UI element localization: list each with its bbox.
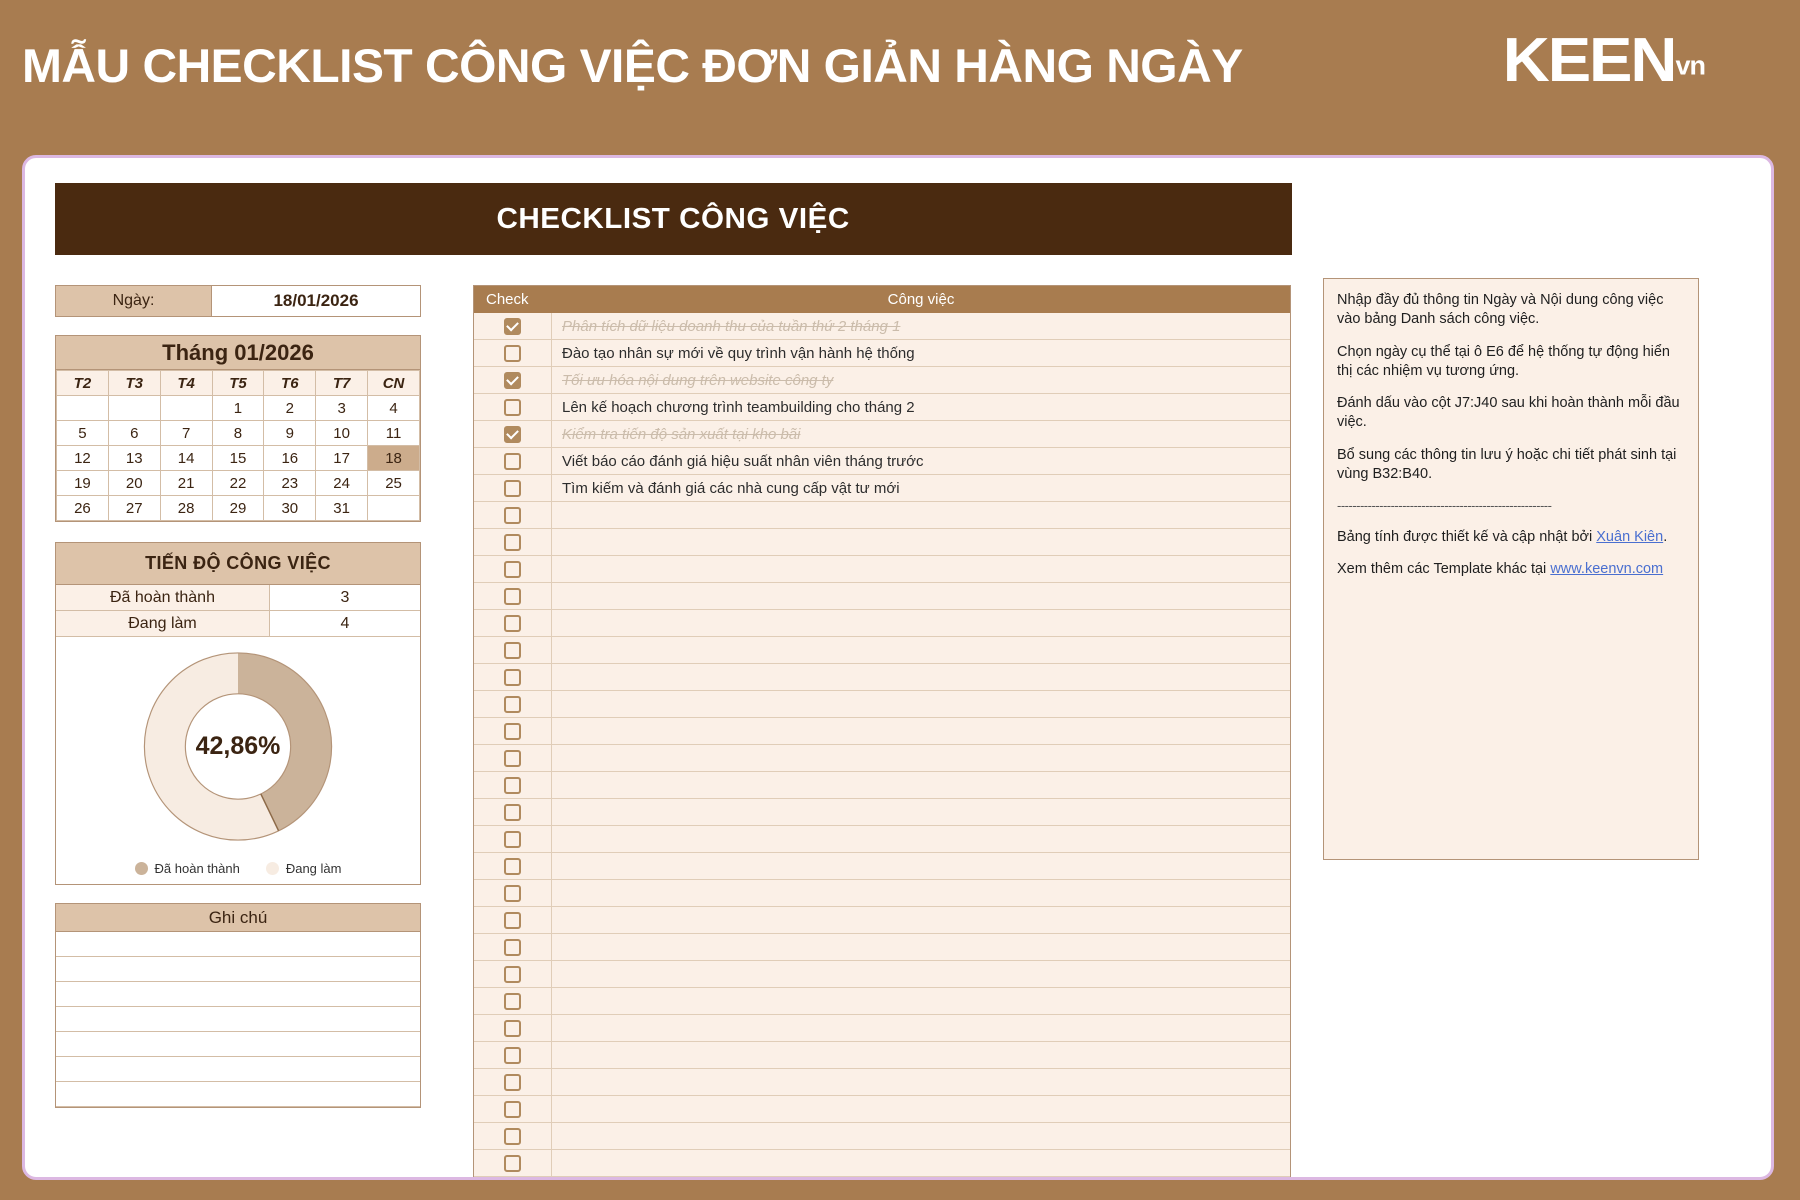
task-text-cell[interactable] [552,610,1290,636]
calendar-day-3[interactable]: 3 [316,396,368,421]
task-check-cell [474,1096,552,1122]
task-text-cell[interactable] [552,637,1290,663]
calendar-week-row: 19202122232425 [57,471,420,496]
task-text-cell[interactable] [552,907,1290,933]
calendar-day-9[interactable]: 9 [264,421,316,446]
notes-table: Ghi chú [55,903,421,1108]
credit-line: Bảng tính được thiết kế và cập nhật bởi … [1337,528,1686,547]
brand-suffix: vn [1675,51,1705,81]
table-row [474,718,1290,745]
task-check-cell [474,556,552,582]
calendar-week-row: 262728293031 [57,496,420,521]
task-check-cell [474,799,552,825]
checkbox-unchecked-icon[interactable] [504,453,521,470]
table-row: Kiểm tra tiến độ sản xuất tại kho bãi [474,421,1290,448]
task-text-cell[interactable] [552,691,1290,717]
task-text-cell[interactable] [552,1069,1290,1095]
progress-stat-row: Đang làm4 [56,611,420,637]
table-row: Tìm kiếm và đánh giá các nhà cung cấp vậ… [474,475,1290,502]
calendar-day-11[interactable]: 11 [368,421,420,446]
notes-line[interactable] [56,1007,420,1032]
task-table-header: Check Công việc [474,286,1290,313]
calendar-day-4[interactable]: 4 [368,396,420,421]
table-row [474,529,1290,556]
task-check-cell [474,1042,552,1068]
task-check-cell [474,961,552,987]
table-row [474,1123,1290,1150]
task-check-cell [474,610,552,636]
calendar-day-8[interactable]: 8 [212,421,264,446]
calendar-day-30[interactable]: 30 [264,496,316,521]
calendar-day-12[interactable]: 12 [57,446,109,471]
task-text-cell[interactable]: Tối ưu hóa nội dung trên website công ty [552,367,1290,393]
more-templates-line: Xem thêm các Template khác tại www.keenv… [1337,560,1686,579]
task-check-cell [474,772,552,798]
instruction-4: Bổ sung các thông tin lưu ý hoặc chi tiế… [1337,446,1686,485]
checkbox-unchecked-icon[interactable] [504,696,521,713]
table-row [474,961,1290,988]
website-link[interactable]: www.keenvn.com [1550,561,1663,577]
checkbox-unchecked-icon[interactable] [504,777,521,794]
task-check-cell [474,907,552,933]
notes-title: Ghi chú [56,904,420,932]
table-row [474,745,1290,772]
progress-stat-label: Đang làm [56,611,270,636]
calendar-day-26[interactable]: 26 [57,496,109,521]
calendar-day-1[interactable]: 1 [212,396,264,421]
task-text-cell[interactable] [552,934,1290,960]
calendar-day-29[interactable]: 29 [212,496,264,521]
calendar-day-empty [108,396,160,421]
task-text-cell[interactable] [552,1150,1290,1176]
legend-label: Đang làm [286,861,342,876]
table-row [474,610,1290,637]
task-text-cell[interactable] [552,556,1290,582]
calendar-day-21[interactable]: 21 [160,471,212,496]
task-check-cell [474,421,552,447]
task-text-cell[interactable] [552,1015,1290,1041]
task-text-cell[interactable]: Lên kế hoạch chương trình teambuilding c… [552,394,1290,420]
calendar-day-19[interactable]: 19 [57,471,109,496]
calendar-day-22[interactable]: 22 [212,471,264,496]
checkbox-unchecked-icon[interactable] [504,804,521,821]
legend-item: Đang làm [266,861,342,876]
calendar: Tháng 01/2026 T2T3T4T5T6T7CN 12345678910… [55,335,421,522]
legend-color-swatch [266,862,279,875]
checkbox-unchecked-icon[interactable] [504,1155,521,1172]
more-prefix: Xem thêm các Template khác tại [1337,561,1550,577]
table-row [474,772,1290,799]
table-row [474,1042,1290,1069]
checkbox-unchecked-icon[interactable] [504,642,521,659]
instruction-3: Đánh dấu vào cột J7:J40 sau khi hoàn thà… [1337,394,1686,433]
table-row: Tối ưu hóa nội dung trên website công ty [474,367,1290,394]
date-input[interactable]: 18/01/2026 [212,286,420,316]
notes-line[interactable] [56,982,420,1007]
notes-line[interactable] [56,1082,420,1107]
calendar-day-10[interactable]: 10 [316,421,368,446]
progress-panel: TIẾN ĐỘ CÔNG VIỆC Đã hoàn thành3Đang làm… [55,542,421,885]
sheet-title-bar: CHECKLIST CÔNG VIỆC [55,183,1292,255]
calendar-day-20[interactable]: 20 [108,471,160,496]
notes-lines [56,932,420,1107]
task-check-cell [474,502,552,528]
calendar-day-23[interactable]: 23 [264,471,316,496]
calendar-day-28[interactable]: 28 [160,496,212,521]
table-row [474,556,1290,583]
donut-graphic: 42,86% [141,649,336,844]
checkbox-unchecked-icon[interactable] [504,831,521,848]
checkbox-unchecked-icon[interactable] [504,1101,521,1118]
task-text-cell[interactable]: Phân tích dữ liệu doanh thu của tuần thứ… [552,313,1290,339]
progress-donut-chart: 42,86% Đã hoàn thànhĐang làm [56,637,420,884]
calendar-weekday-row: T2T3T4T5T6T7CN [57,371,420,396]
checkbox-checked-icon[interactable] [504,318,521,335]
table-row [474,799,1290,826]
notes-line[interactable] [56,957,420,982]
checkbox-unchecked-icon[interactable] [504,939,521,956]
task-text-cell[interactable] [552,502,1290,528]
calendar-weekday: T5 [212,371,264,396]
page-banner: MẪU CHECKLIST CÔNG VIỆC ĐƠN GIẢN HÀNG NG… [0,0,1800,148]
donut-center-label: 42,86% [141,649,336,844]
calendar-weekday: T3 [108,371,160,396]
calendar-day-5[interactable]: 5 [57,421,109,446]
checkbox-unchecked-icon[interactable] [504,507,521,524]
task-text-cell[interactable]: Tìm kiếm và đánh giá các nhà cung cấp vậ… [552,475,1290,501]
table-row [474,880,1290,907]
task-check-cell [474,745,552,771]
progress-stat-label: Đã hoàn thành [56,585,270,610]
calendar-day-16[interactable]: 16 [264,446,316,471]
column-header-task: Công việc [552,286,1290,313]
progress-stats: Đã hoàn thành3Đang làm4 [56,585,420,637]
table-row [474,637,1290,664]
task-text-cell[interactable] [552,1096,1290,1122]
task-text-cell[interactable] [552,529,1290,555]
table-row: Lên kế hoạch chương trình teambuilding c… [474,394,1290,421]
table-row [474,826,1290,853]
author-link[interactable]: Xuân Kiên [1596,529,1663,545]
task-check-cell [474,529,552,555]
checkbox-unchecked-icon[interactable] [504,534,521,551]
column-header-check: Check [474,286,552,313]
date-field[interactable]: Ngày: 18/01/2026 [55,285,421,317]
credit-prefix: Bảng tính được thiết kế và cập nhật bởi [1337,529,1596,545]
table-row: Phân tích dữ liệu doanh thu của tuần thứ… [474,313,1290,340]
task-text-cell[interactable]: Kiểm tra tiến độ sản xuất tại kho bãi [552,421,1290,447]
checkbox-unchecked-icon[interactable] [504,966,521,983]
progress-stat-value: 3 [270,585,420,610]
checkbox-unchecked-icon[interactable] [504,912,521,929]
task-check-cell [474,691,552,717]
calendar-weekday: T4 [160,371,212,396]
calendar-day-27[interactable]: 27 [108,496,160,521]
instruction-1: Nhập đầy đủ thông tin Ngày và Nội dung c… [1337,291,1686,330]
task-text-cell[interactable] [552,745,1290,771]
progress-stat-value: 4 [270,611,420,636]
checkbox-checked-icon[interactable] [504,372,521,389]
table-row [474,853,1290,880]
calendar-day-7[interactable]: 7 [160,421,212,446]
task-check-cell [474,880,552,906]
calendar-day-empty [368,496,420,521]
checkbox-unchecked-icon[interactable] [504,885,521,902]
table-row [474,907,1290,934]
table-row [474,1096,1290,1123]
task-check-cell [474,583,552,609]
task-text-cell[interactable] [552,583,1290,609]
task-check-cell [474,988,552,1014]
table-row [474,691,1290,718]
task-check-cell [474,367,552,393]
checkbox-unchecked-icon[interactable] [504,669,521,686]
checkbox-unchecked-icon[interactable] [504,1047,521,1064]
table-row [474,1069,1290,1096]
spreadsheet-card: CHECKLIST CÔNG VIỆC Ngày: 18/01/2026 Thá… [22,155,1774,1180]
calendar-day-18[interactable]: 18 [368,446,420,471]
task-check-cell [474,340,552,366]
calendar-week-row: 567891011 [57,421,420,446]
checkbox-unchecked-icon[interactable] [504,723,521,740]
legend-label: Đã hoàn thành [155,861,240,876]
calendar-day-6[interactable]: 6 [108,421,160,446]
task-rows-container: Phân tích dữ liệu doanh thu của tuần thứ… [474,313,1290,1177]
table-row [474,664,1290,691]
table-row [474,502,1290,529]
progress-stat-row: Đã hoàn thành3 [56,585,420,611]
checkbox-unchecked-icon[interactable] [504,345,521,362]
checkbox-unchecked-icon[interactable] [504,1020,521,1037]
task-check-cell [474,853,552,879]
calendar-day-15[interactable]: 15 [212,446,264,471]
calendar-week-row: 1234 [57,396,420,421]
calendar-day-24[interactable]: 24 [316,471,368,496]
task-check-cell [474,448,552,474]
calendar-weekday: CN [368,371,420,396]
notes-line[interactable] [56,1057,420,1082]
task-text-cell[interactable] [552,772,1290,798]
checkbox-unchecked-icon[interactable] [504,480,521,497]
table-row [474,1150,1290,1177]
task-text-cell[interactable] [552,826,1290,852]
calendar-grid: T2T3T4T5T6T7CN 1234567891011121314151617… [56,370,420,521]
calendar-day-empty [57,396,109,421]
task-check-cell [474,718,552,744]
table-row [474,1015,1290,1042]
checkbox-unchecked-icon[interactable] [504,561,521,578]
chart-legend: Đã hoàn thànhĐang làm [56,861,420,876]
checkbox-unchecked-icon[interactable] [504,993,521,1010]
date-label: Ngày: [56,286,212,316]
checkbox-unchecked-icon[interactable] [504,399,521,416]
calendar-day-empty [160,396,212,421]
task-check-cell [474,826,552,852]
table-row [474,988,1290,1015]
checkbox-unchecked-icon[interactable] [504,858,521,875]
task-check-cell [474,394,552,420]
instruction-2: Chọn ngày cụ thể tại ô E6 để hệ thống tự… [1337,343,1686,382]
task-text-cell[interactable]: Đào tạo nhân sự mới về quy trình vận hàn… [552,340,1290,366]
calendar-title: Tháng 01/2026 [56,336,420,370]
task-check-cell [474,637,552,663]
task-text-cell[interactable] [552,799,1290,825]
checkbox-unchecked-icon[interactable] [504,1074,521,1091]
calendar-day-17[interactable]: 17 [316,446,368,471]
task-text-cell[interactable] [552,664,1290,690]
table-row [474,934,1290,961]
checkbox-unchecked-icon[interactable] [504,750,521,767]
legend-color-swatch [135,862,148,875]
task-table: Check Công việc Phân tích dữ liệu doanh … [473,285,1291,1177]
calendar-day-13[interactable]: 13 [108,446,160,471]
checkbox-unchecked-icon[interactable] [504,1128,521,1145]
task-check-cell [474,475,552,501]
task-text-cell[interactable] [552,961,1290,987]
task-check-cell [474,1069,552,1095]
task-check-cell [474,664,552,690]
task-text-cell[interactable]: Viết báo cáo đánh giá hiệu suất nhân viê… [552,448,1290,474]
calendar-weekday: T6 [264,371,316,396]
notes-line[interactable] [56,932,420,957]
task-check-cell [474,313,552,339]
calendar-body: 1234567891011121314151617181920212223242… [57,396,420,521]
legend-item: Đã hoàn thành [135,861,240,876]
calendar-day-2[interactable]: 2 [264,396,316,421]
table-row: Đào tạo nhân sự mới về quy trình vận hàn… [474,340,1290,367]
task-check-cell [474,1015,552,1041]
calendar-weekday: T2 [57,371,109,396]
task-check-cell [474,1123,552,1149]
calendar-day-31[interactable]: 31 [316,496,368,521]
calendar-weekday: T7 [316,371,368,396]
calendar-day-25[interactable]: 25 [368,471,420,496]
progress-title: TIẾN ĐỘ CÔNG VIỆC [56,543,420,585]
brand-name: KEEN [1503,30,1675,92]
instruction-separator: ----------------------------------------… [1337,497,1686,514]
checkbox-unchecked-icon[interactable] [504,588,521,605]
calendar-week-row: 12131415161718 [57,446,420,471]
task-text-cell[interactable] [552,1042,1290,1068]
task-check-cell [474,934,552,960]
credit-suffix: . [1663,529,1667,545]
task-text-cell[interactable] [552,1123,1290,1149]
notes-line[interactable] [56,1032,420,1057]
sheet-title-text: CHECKLIST CÔNG VIỆC [497,203,850,236]
checkbox-unchecked-icon[interactable] [504,615,521,632]
task-text-cell[interactable] [552,988,1290,1014]
task-text-cell[interactable] [552,880,1290,906]
task-check-cell [474,1150,552,1176]
table-row: Viết báo cáo đánh giá hiệu suất nhân viê… [474,448,1290,475]
instructions-panel: Nhập đầy đủ thông tin Ngày và Nội dung c… [1323,278,1699,860]
checkbox-checked-icon[interactable] [504,426,521,443]
left-column: Ngày: 18/01/2026 Tháng 01/2026 T2T3T4T5T… [55,285,421,1108]
task-text-cell[interactable] [552,718,1290,744]
table-row [474,583,1290,610]
calendar-day-14[interactable]: 14 [160,446,212,471]
task-text-cell[interactable] [552,853,1290,879]
brand-logo: KEENvn [1511,30,1705,92]
page-title: MẪU CHECKLIST CÔNG VIỆC ĐƠN GIẢN HÀNG NG… [22,38,1243,93]
